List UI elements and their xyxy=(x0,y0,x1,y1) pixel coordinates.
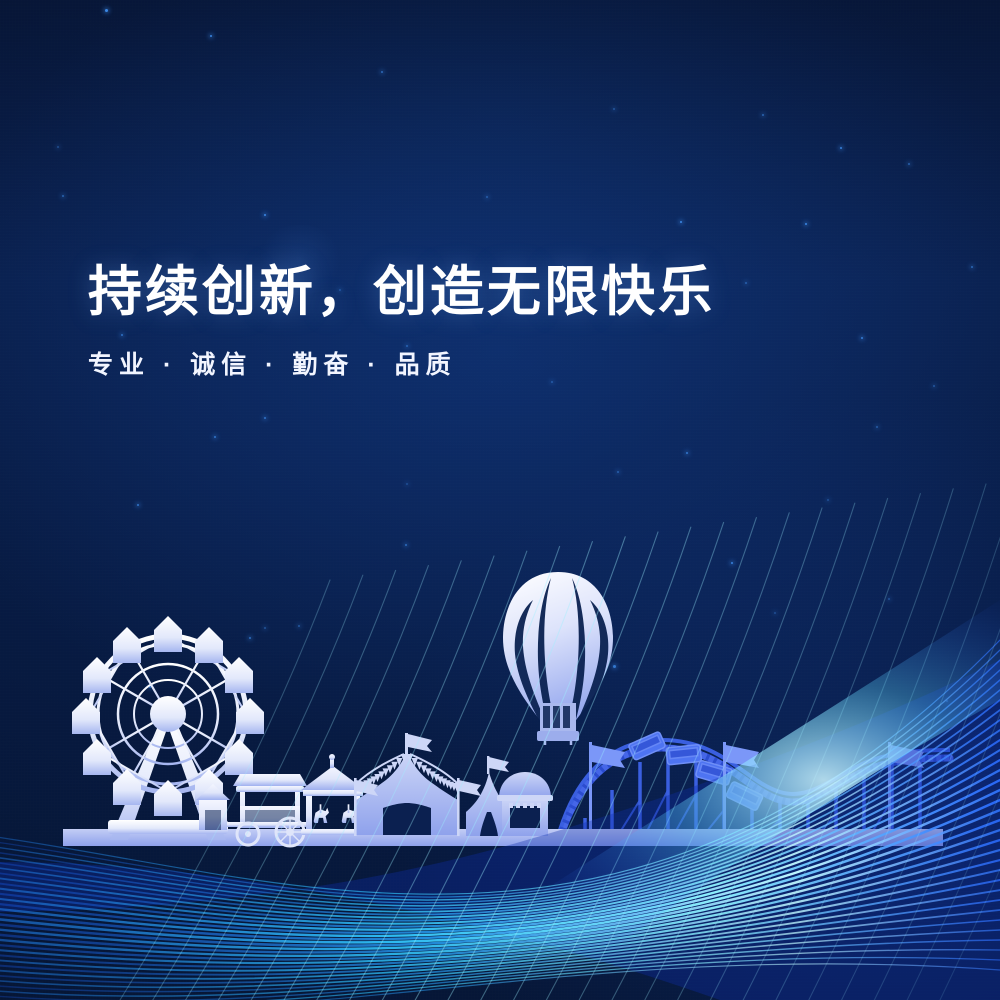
ferris-cabin xyxy=(195,627,223,663)
ferris-cabin xyxy=(113,627,141,663)
big-top-tent xyxy=(354,733,481,836)
roller-coaster xyxy=(560,731,950,845)
carousel-horse xyxy=(314,804,329,823)
ticket-booth xyxy=(497,772,553,836)
scene-svg xyxy=(0,0,1000,1000)
ferris-cabin xyxy=(154,616,182,652)
ferris-wheel xyxy=(72,616,264,840)
hot-air-balloon xyxy=(503,572,613,745)
balloon-basket xyxy=(537,703,579,741)
amusement-park-scene xyxy=(0,0,1000,1000)
hero-banner: 持续创新，创造无限快乐 专业 · 诚信 · 勤奋 · 品质 xyxy=(0,0,1000,1000)
